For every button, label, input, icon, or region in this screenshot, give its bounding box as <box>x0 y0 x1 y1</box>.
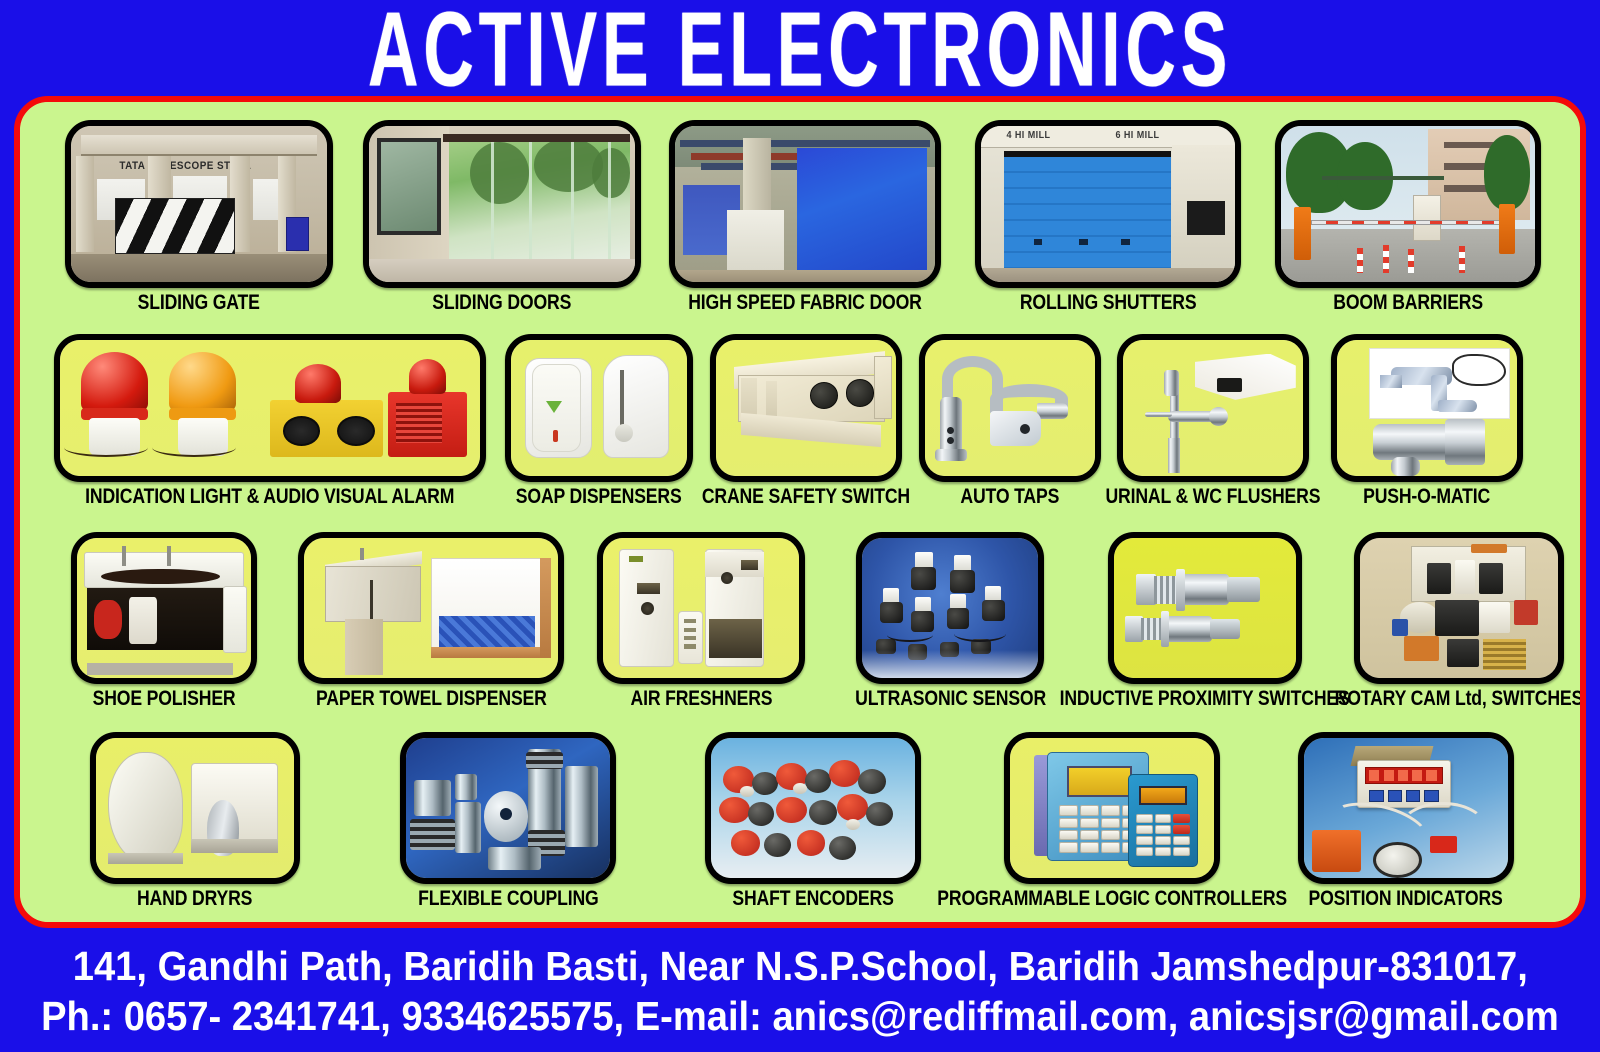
rolling-shutter-sign-right: 6 HI MILL <box>1116 130 1160 141</box>
product-cell-shaft-encoders[interactable]: SHAFT ENCODERS <box>668 732 958 910</box>
flexible-coupling-photo <box>400 732 616 884</box>
ultrasonic-sensor-photo <box>856 532 1044 684</box>
product-row-1: TATA BLUESCOPE STEEL SLIDING GATE <box>20 120 1580 332</box>
product-cell-position-indicators[interactable]: POSITION INDICATORS <box>1266 732 1546 910</box>
product-cell-air-freshners[interactable]: AIR FRESHNERS <box>575 532 829 710</box>
product-label: URINAL & WC FLUSHERS <box>1106 485 1321 508</box>
product-cell-flexible-coupling[interactable]: FLEXIBLE COUPLING <box>348 732 668 910</box>
product-showcase-frame: TATA BLUESCOPE STEEL SLIDING GATE <box>14 96 1586 928</box>
product-label: HAND DRYRS <box>137 887 252 910</box>
product-label: FLEXIBLE COUPLING <box>418 887 598 910</box>
banner-header: ACTIVE ELECTRONICS <box>0 0 1600 100</box>
soap-dispenser-photo <box>505 334 693 482</box>
product-label: ROLLING SHUTTERS <box>1020 291 1197 314</box>
product-row-3: SHOE POLISHER PAPER <box>20 532 1580 732</box>
product-label: CRANE SAFETY SWITCH <box>702 485 910 508</box>
hand-dryer-photo <box>90 732 300 884</box>
product-label: AUTO TAPS <box>961 485 1060 508</box>
product-cell-ultrasonic-sensor[interactable]: ULTRASONIC SENSOR <box>828 532 1072 710</box>
rotary-cam-switch-photo <box>1354 532 1564 684</box>
product-label: AIR FRESHNERS <box>631 687 773 710</box>
product-label: ULTRASONIC SENSOR <box>855 687 1046 710</box>
product-label: SHOE POLISHER <box>92 687 235 710</box>
product-label: PUSH-O-MATIC <box>1363 485 1490 508</box>
shoe-polisher-photo <box>71 532 257 684</box>
rolling-shutter-sign-left: 4 HI MILL <box>1006 130 1050 141</box>
product-row-2: INDICATION LIGHT & AUDIO VISUAL ALARM SO… <box>20 334 1580 532</box>
footer-contact-line: Ph.: 0657- 2341741, 9334625575, E-mail: … <box>41 992 1559 1040</box>
rolling-shutter-photo: 4 HI MILL 6 HI MILL <box>975 120 1241 288</box>
product-cell-plc[interactable]: PROGRAMMABLE LOGIC CONTROLLERS <box>958 732 1266 910</box>
sliding-doors-photo <box>363 120 641 288</box>
product-label: SHAFT ENCODERS <box>732 887 893 910</box>
product-cell-proximity-switches[interactable]: INDUCTIVE PROXIMITY SWITCHES <box>1072 532 1338 710</box>
indication-light-photo <box>54 334 486 482</box>
product-label: HIGH SPEED FABRIC DOOR <box>688 291 921 314</box>
product-cell-urinal-flushers[interactable]: URINAL & WC FLUSHERS <box>1110 334 1316 508</box>
product-label: ROTARY CAM Ltd, SWITCHES <box>1335 687 1583 710</box>
proximity-switch-photo <box>1108 532 1302 684</box>
crane-safety-switch-photo <box>710 334 902 482</box>
push-o-matic-photo <box>1331 334 1523 482</box>
product-label: INDUCTIVE PROXIMITY SWITCHES <box>1060 687 1350 710</box>
position-indicator-photo <box>1298 732 1514 884</box>
product-cell-fabric-door[interactable]: HIGH SPEED FABRIC DOOR <box>652 120 958 314</box>
product-label: SLIDING DOORS <box>433 291 572 314</box>
product-cell-sliding-doors[interactable]: SLIDING DOORS <box>352 120 652 314</box>
product-cell-paper-towel[interactable]: PAPER TOWEL DISPENSER <box>288 532 575 710</box>
product-label: SOAP DISPENSERS <box>516 485 682 508</box>
product-label: POSITION INDICATORS <box>1309 887 1503 910</box>
product-cell-rolling-shutters[interactable]: 4 HI MILL 6 HI MILL ROLLING SHUTTER <box>958 120 1258 314</box>
boom-barrier-photo <box>1275 120 1541 288</box>
product-cell-indication-light[interactable]: INDICATION LIGHT & AUDIO VISUAL ALARM <box>44 334 496 508</box>
product-label: SLIDING GATE <box>138 291 260 314</box>
product-cell-rotary-cam-switches[interactable]: ROTARY CAM Ltd, SWITCHES <box>1338 532 1580 710</box>
product-cell-shoe-polisher[interactable]: SHOE POLISHER <box>40 532 288 710</box>
urinal-flusher-photo <box>1117 334 1309 482</box>
product-cell-sliding-gate[interactable]: TATA BLUESCOPE STEEL SLIDING GATE <box>46 120 352 314</box>
product-cell-push-o-matic[interactable]: PUSH-O-MATIC <box>1316 334 1538 508</box>
product-panel: TATA BLUESCOPE STEEL SLIDING GATE <box>20 102 1580 922</box>
auto-tap-photo <box>919 334 1101 482</box>
air-freshener-photo <box>597 532 805 684</box>
plc-photo <box>1004 732 1220 884</box>
product-cell-auto-taps[interactable]: AUTO TAPS <box>910 334 1110 508</box>
fabric-door-photo <box>669 120 941 288</box>
footer-address-line: 141, Gandhi Path, Baridih Basti, Near N.… <box>72 942 1527 990</box>
product-row-4: HAND DRYRS <box>20 732 1580 928</box>
sliding-gate-photo: TATA BLUESCOPE STEEL <box>65 120 333 288</box>
product-label: PROGRAMMABLE LOGIC CONTROLLERS <box>937 887 1287 910</box>
company-title: ACTIVE ELECTRONICS <box>368 0 1232 104</box>
contact-footer: 141, Gandhi Path, Baridih Basti, Near N.… <box>0 930 1600 1052</box>
product-cell-hand-dryers[interactable]: HAND DRYRS <box>42 732 348 910</box>
product-cell-crane-safety-switch[interactable]: CRANE SAFETY SWITCH <box>702 334 910 508</box>
product-label: PAPER TOWEL DISPENSER <box>316 687 547 710</box>
product-label: BOOM BARRIERS <box>1333 291 1483 314</box>
paper-towel-dispenser-photo <box>298 532 564 684</box>
shaft-encoder-photo <box>705 732 921 884</box>
product-cell-soap-dispensers[interactable]: SOAP DISPENSERS <box>496 334 702 508</box>
product-label: INDICATION LIGHT & AUDIO VISUAL ALARM <box>85 485 454 508</box>
product-cell-boom-barriers[interactable]: BOOM BARRIERS <box>1258 120 1558 314</box>
